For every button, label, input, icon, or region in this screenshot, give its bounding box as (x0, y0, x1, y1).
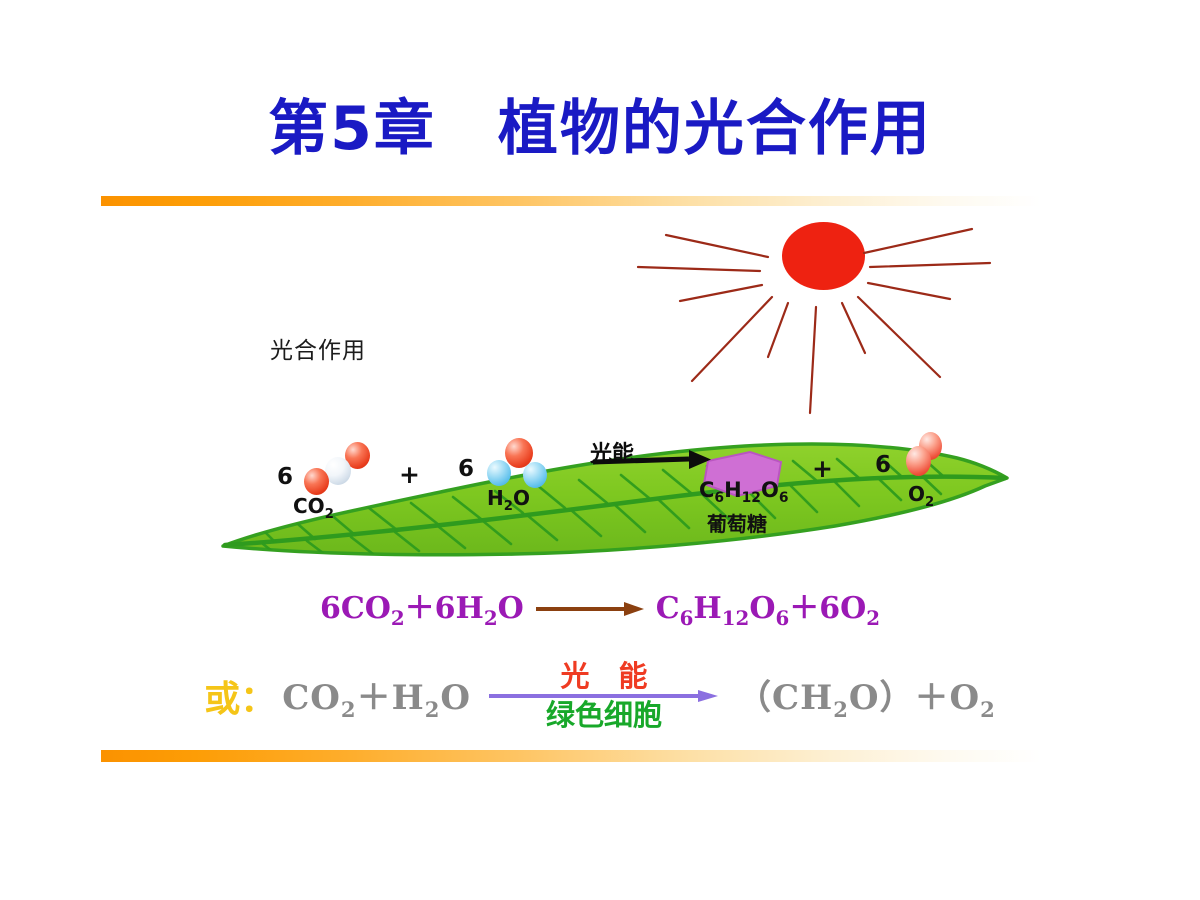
equation-2-prefix: 或： (204, 670, 276, 722)
equation-2-above-arrow: 光 能 (561, 662, 648, 691)
equation-overall: 6CO2＋6H2O C6H12O6＋6O2 (0, 583, 1200, 630)
equation-2-left: CO2＋H2O (282, 670, 471, 722)
equation-2-arrow-group: 光 能 绿色细胞 (479, 648, 729, 744)
water-molecule (487, 438, 557, 490)
formula-o2: O2 (908, 482, 934, 510)
sun-icon (620, 205, 1020, 415)
page-title: 第5章 植物的光合作用 (0, 98, 1200, 161)
formula-co2: CO2 (293, 494, 334, 522)
equation-1-arrow (534, 592, 646, 622)
sun-rays (620, 205, 1020, 415)
equation-2-below-arrow: 绿色细胞 (546, 701, 662, 730)
equation-2-right: （CH2O）＋O2 (737, 670, 996, 722)
coefficient-o2: 6 (875, 452, 891, 478)
equation-1-left: 6CO2＋6H2O (320, 583, 524, 630)
plus-sign-2: + (812, 454, 833, 483)
carbon-dioxide-molecule (303, 440, 381, 496)
plus-sign-1: + (399, 460, 420, 489)
leaf-diagram: 光能 6 CO2 + 6 H2O C6H12O6 葡萄糖 + 6 O2 (215, 418, 1015, 570)
equation-2-arrow (488, 694, 720, 698)
oxygen-molecule (905, 432, 957, 484)
coefficient-co2: 6 (277, 464, 293, 490)
formula-glucose: C6H12O6 (699, 478, 788, 506)
formula-h2o: H2O (487, 486, 530, 514)
divider-bottom (101, 750, 1041, 762)
coefficient-h2o: 6 (458, 456, 474, 482)
slide-canvas: 第5章 植物的光合作用 光合作用 (0, 0, 1200, 900)
energy-label: 光能 (590, 436, 634, 468)
glucose-name-cn: 葡萄糖 (707, 508, 767, 537)
equation-1-right: C6H12O6＋6O2 (656, 583, 880, 630)
photosynthesis-caption: 光合作用 (270, 331, 366, 365)
equation-alternate: 或： CO2＋H2O 光 能 绿色细胞 （CH2O）＋O2 (0, 648, 1200, 744)
